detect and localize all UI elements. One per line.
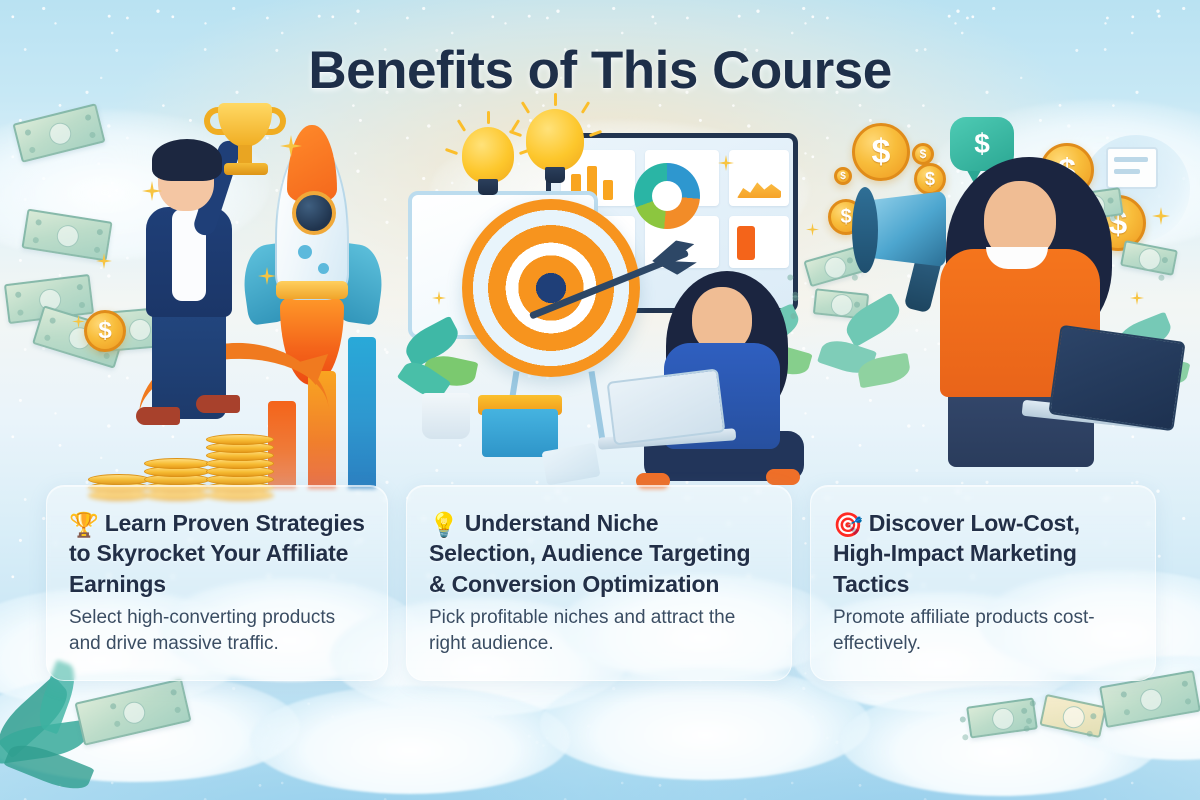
benefit-card-1[interactable]: 🏆Learn Proven Strategies to Skyrocket Yo… bbox=[46, 485, 388, 681]
benefit-card-3-title: 🎯Discover Low-Cost, High-Impact Marketin… bbox=[833, 508, 1133, 599]
lightbulb-icon: 💡 bbox=[429, 514, 459, 538]
benefit-card-1-title-text: Learn Proven Strategies to Skyrocket You… bbox=[69, 510, 365, 597]
infographic-canvas: Benefits of This Course bbox=[0, 0, 1200, 800]
benefit-card-2-body: Pick profitable niches and attract the r… bbox=[429, 605, 769, 657]
benefit-card-3-body: Promote affiliate products cost-effectiv… bbox=[833, 605, 1133, 657]
benefit-card-2[interactable]: 💡Understand Niche Selection, Audience Ta… bbox=[406, 485, 792, 681]
benefit-card-3-title-text: Discover Low-Cost, High-Impact Marketing… bbox=[833, 510, 1080, 597]
benefit-card-1-body: Select high-converting products and driv… bbox=[69, 605, 365, 657]
benefit-cards-row: 🏆Learn Proven Strategies to Skyrocket Yo… bbox=[0, 0, 1200, 800]
benefit-card-2-title: 💡Understand Niche Selection, Audience Ta… bbox=[429, 508, 769, 599]
benefit-card-2-title-text: Understand Niche Selection, Audience Tar… bbox=[429, 510, 750, 597]
benefit-card-3[interactable]: 🎯Discover Low-Cost, High-Impact Marketin… bbox=[810, 485, 1156, 681]
benefit-card-1-title: 🏆Learn Proven Strategies to Skyrocket Yo… bbox=[69, 508, 365, 599]
dart-target-icon: 🎯 bbox=[833, 514, 863, 538]
trophy-icon: 🏆 bbox=[69, 514, 99, 538]
